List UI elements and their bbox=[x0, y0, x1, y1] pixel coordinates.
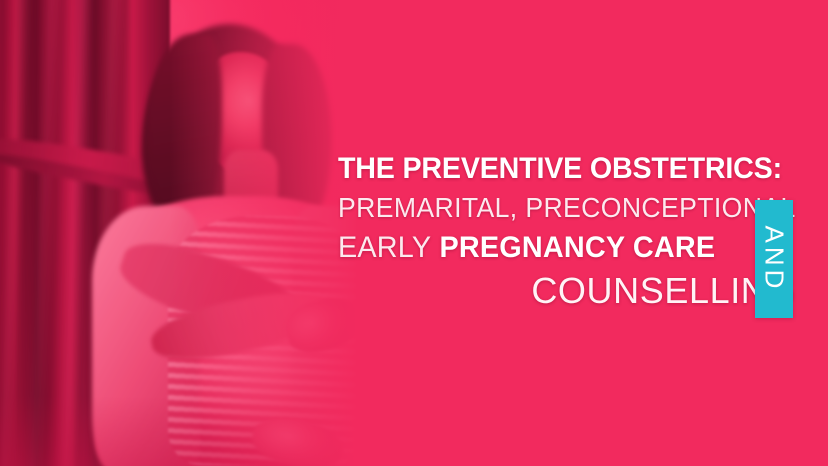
and-connector-label: AND bbox=[761, 226, 787, 293]
promo-banner: THE PREVENTIVE OBSTETRICS: PREMARITAL, P… bbox=[0, 0, 828, 466]
title-line-2: PREMARITAL, PRECONCEPTIONAL bbox=[338, 188, 785, 228]
and-connector-tab: AND bbox=[755, 200, 793, 318]
title-line-4: COUNSELLING bbox=[338, 268, 808, 314]
title-line-3-bold: PREGNANCY CARE bbox=[439, 231, 715, 264]
title-line-3: EARLY PREGNANCY CARE bbox=[338, 228, 789, 268]
title-line-1: THE PREVENTIVE OBSTETRICS: bbox=[338, 150, 787, 188]
title-line-3-thin: EARLY bbox=[338, 231, 431, 264]
title-block: THE PREVENTIVE OBSTETRICS: PREMARITAL, P… bbox=[338, 150, 808, 314]
